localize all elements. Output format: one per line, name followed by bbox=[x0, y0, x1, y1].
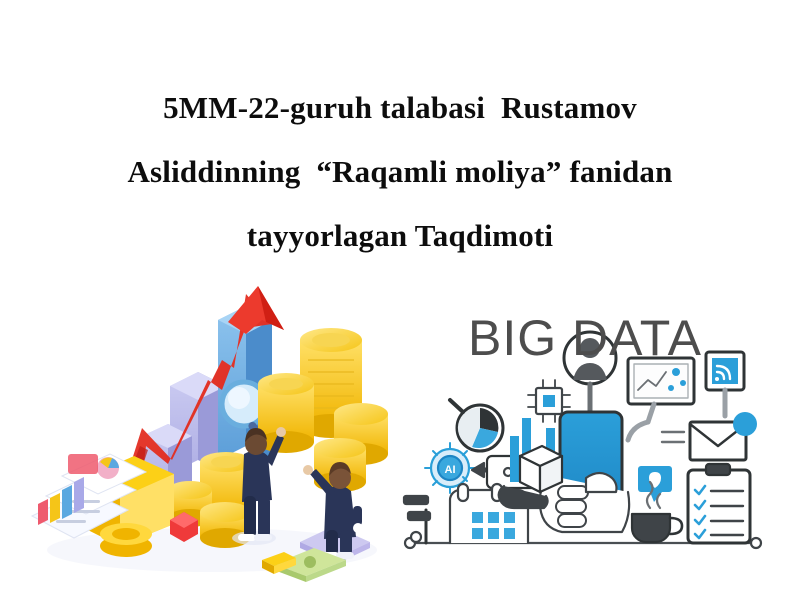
clipboard-checklist-icon bbox=[688, 464, 750, 543]
title-line-2: Asliddinning “Raqamli moliya” fanidan bbox=[0, 140, 800, 204]
dashboard-monitor-icon bbox=[628, 358, 694, 440]
envelope-icon bbox=[662, 412, 757, 460]
magnifier-pie-chart-icon bbox=[450, 400, 503, 451]
plug-icon bbox=[404, 496, 430, 543]
big-data-heading: BIG DATA bbox=[400, 310, 770, 366]
location-pin-icon bbox=[638, 466, 672, 502]
page-title: 5MM-22-guruh talabasi Rustamov Asliddinn… bbox=[0, 76, 800, 268]
title-line-3: tayyorlagan Taqdimoti bbox=[0, 204, 800, 268]
slide-canvas: 5MM-22-guruh talabasi Rustamov Asliddinn… bbox=[0, 0, 800, 600]
financial-growth-illustration bbox=[22, 268, 402, 588]
title-line-1: 5MM-22-guruh talabasi Rustamov bbox=[0, 76, 800, 140]
svg-text:AI: AI bbox=[445, 464, 456, 476]
